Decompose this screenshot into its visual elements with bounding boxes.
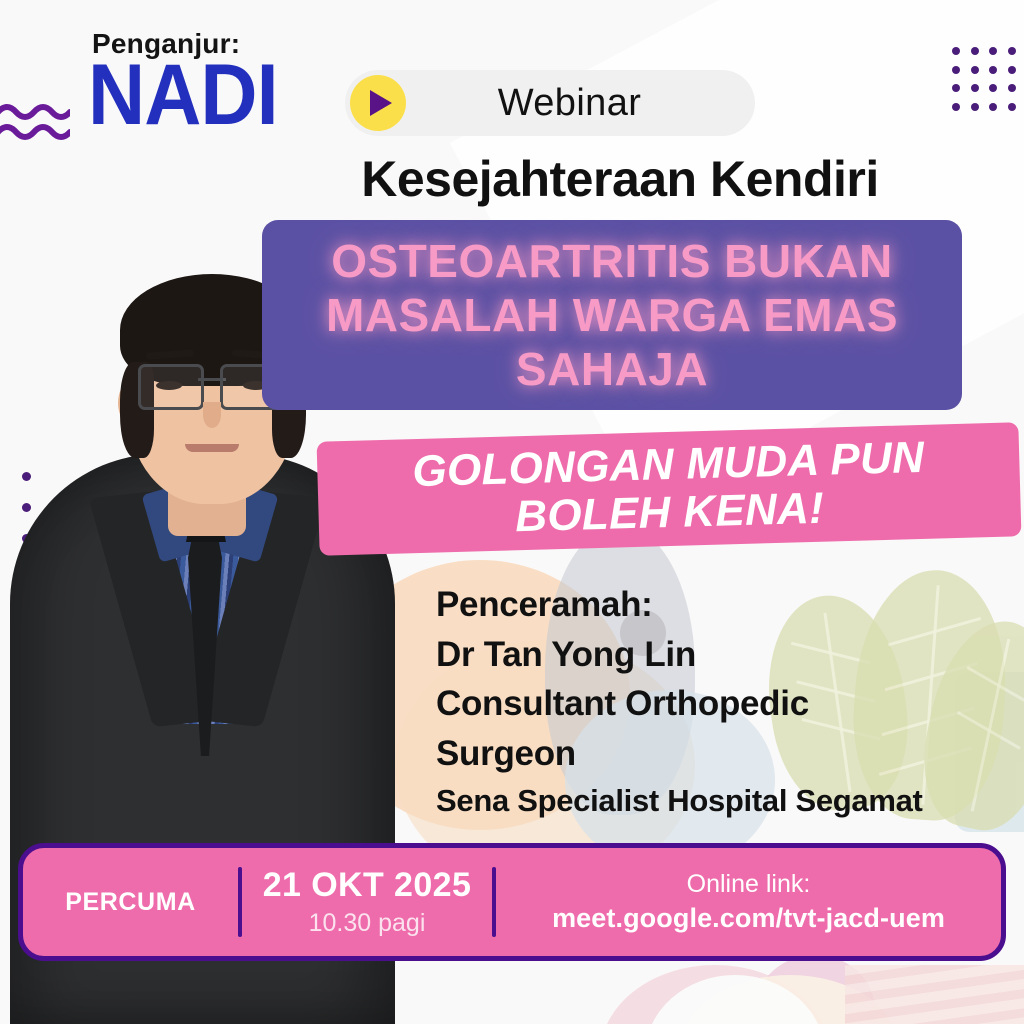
price-label: PERCUMA <box>23 888 238 917</box>
event-date: 21 OKT 2025 <box>242 866 492 905</box>
topic-line-2: MASALAH WARGA EMAS <box>326 288 898 342</box>
online-link-url[interactable]: meet.google.com/tvt-jacd-uem <box>496 903 1001 934</box>
speaker-hospital: Sena Specialist Hospital Segamat <box>436 779 1016 823</box>
subtitle-line-1: GOLONGAN MUDA PUN <box>412 433 925 496</box>
topic-line-1: OSTEOARTRITIS BUKAN <box>331 234 893 288</box>
topic-line-3: SAHAJA <box>516 342 708 396</box>
webinar-badge-label: Webinar <box>406 82 755 125</box>
speaker-name: Dr Tan Yong Lin <box>436 630 1016 680</box>
webinar-poster: Penganjur: NADI Webinar Kesejahteraan Ke… <box>0 0 1024 1024</box>
subtitle-banner-pink: GOLONGAN MUDA PUN BOLEH KENA! <box>317 422 1022 556</box>
speaker-title-line-1: Consultant Orthopedic <box>436 679 1016 729</box>
event-info-bar: PERCUMA 21 OKT 2025 10.30 pagi Online li… <box>18 843 1006 961</box>
organizer-logo: NADI <box>88 52 278 138</box>
event-time: 10.30 pagi <box>242 909 492 938</box>
decor-stripes <box>845 965 1024 1024</box>
event-date-block: 21 OKT 2025 10.30 pagi <box>242 866 492 938</box>
series-title: Kesejahteraan Kendiri <box>270 150 970 208</box>
topic-banner-purple: OSTEOARTRITIS BUKAN MASALAH WARGA EMAS S… <box>262 220 962 410</box>
speaker-details: Penceramah: Dr Tan Yong Lin Consultant O… <box>436 580 1016 823</box>
dot-grid-decoration <box>947 42 1021 116</box>
play-icon <box>350 75 406 131</box>
webinar-badge: Webinar <box>345 70 755 136</box>
online-link-label: Online link: <box>496 870 1001 899</box>
speaker-title-line-2: Surgeon <box>436 729 1016 779</box>
online-link-block: Online link: meet.google.com/tvt-jacd-ue… <box>496 870 1001 934</box>
subtitle-line-2: BOLEH KENA! <box>515 485 825 542</box>
speaker-label: Penceramah: <box>436 580 1016 630</box>
